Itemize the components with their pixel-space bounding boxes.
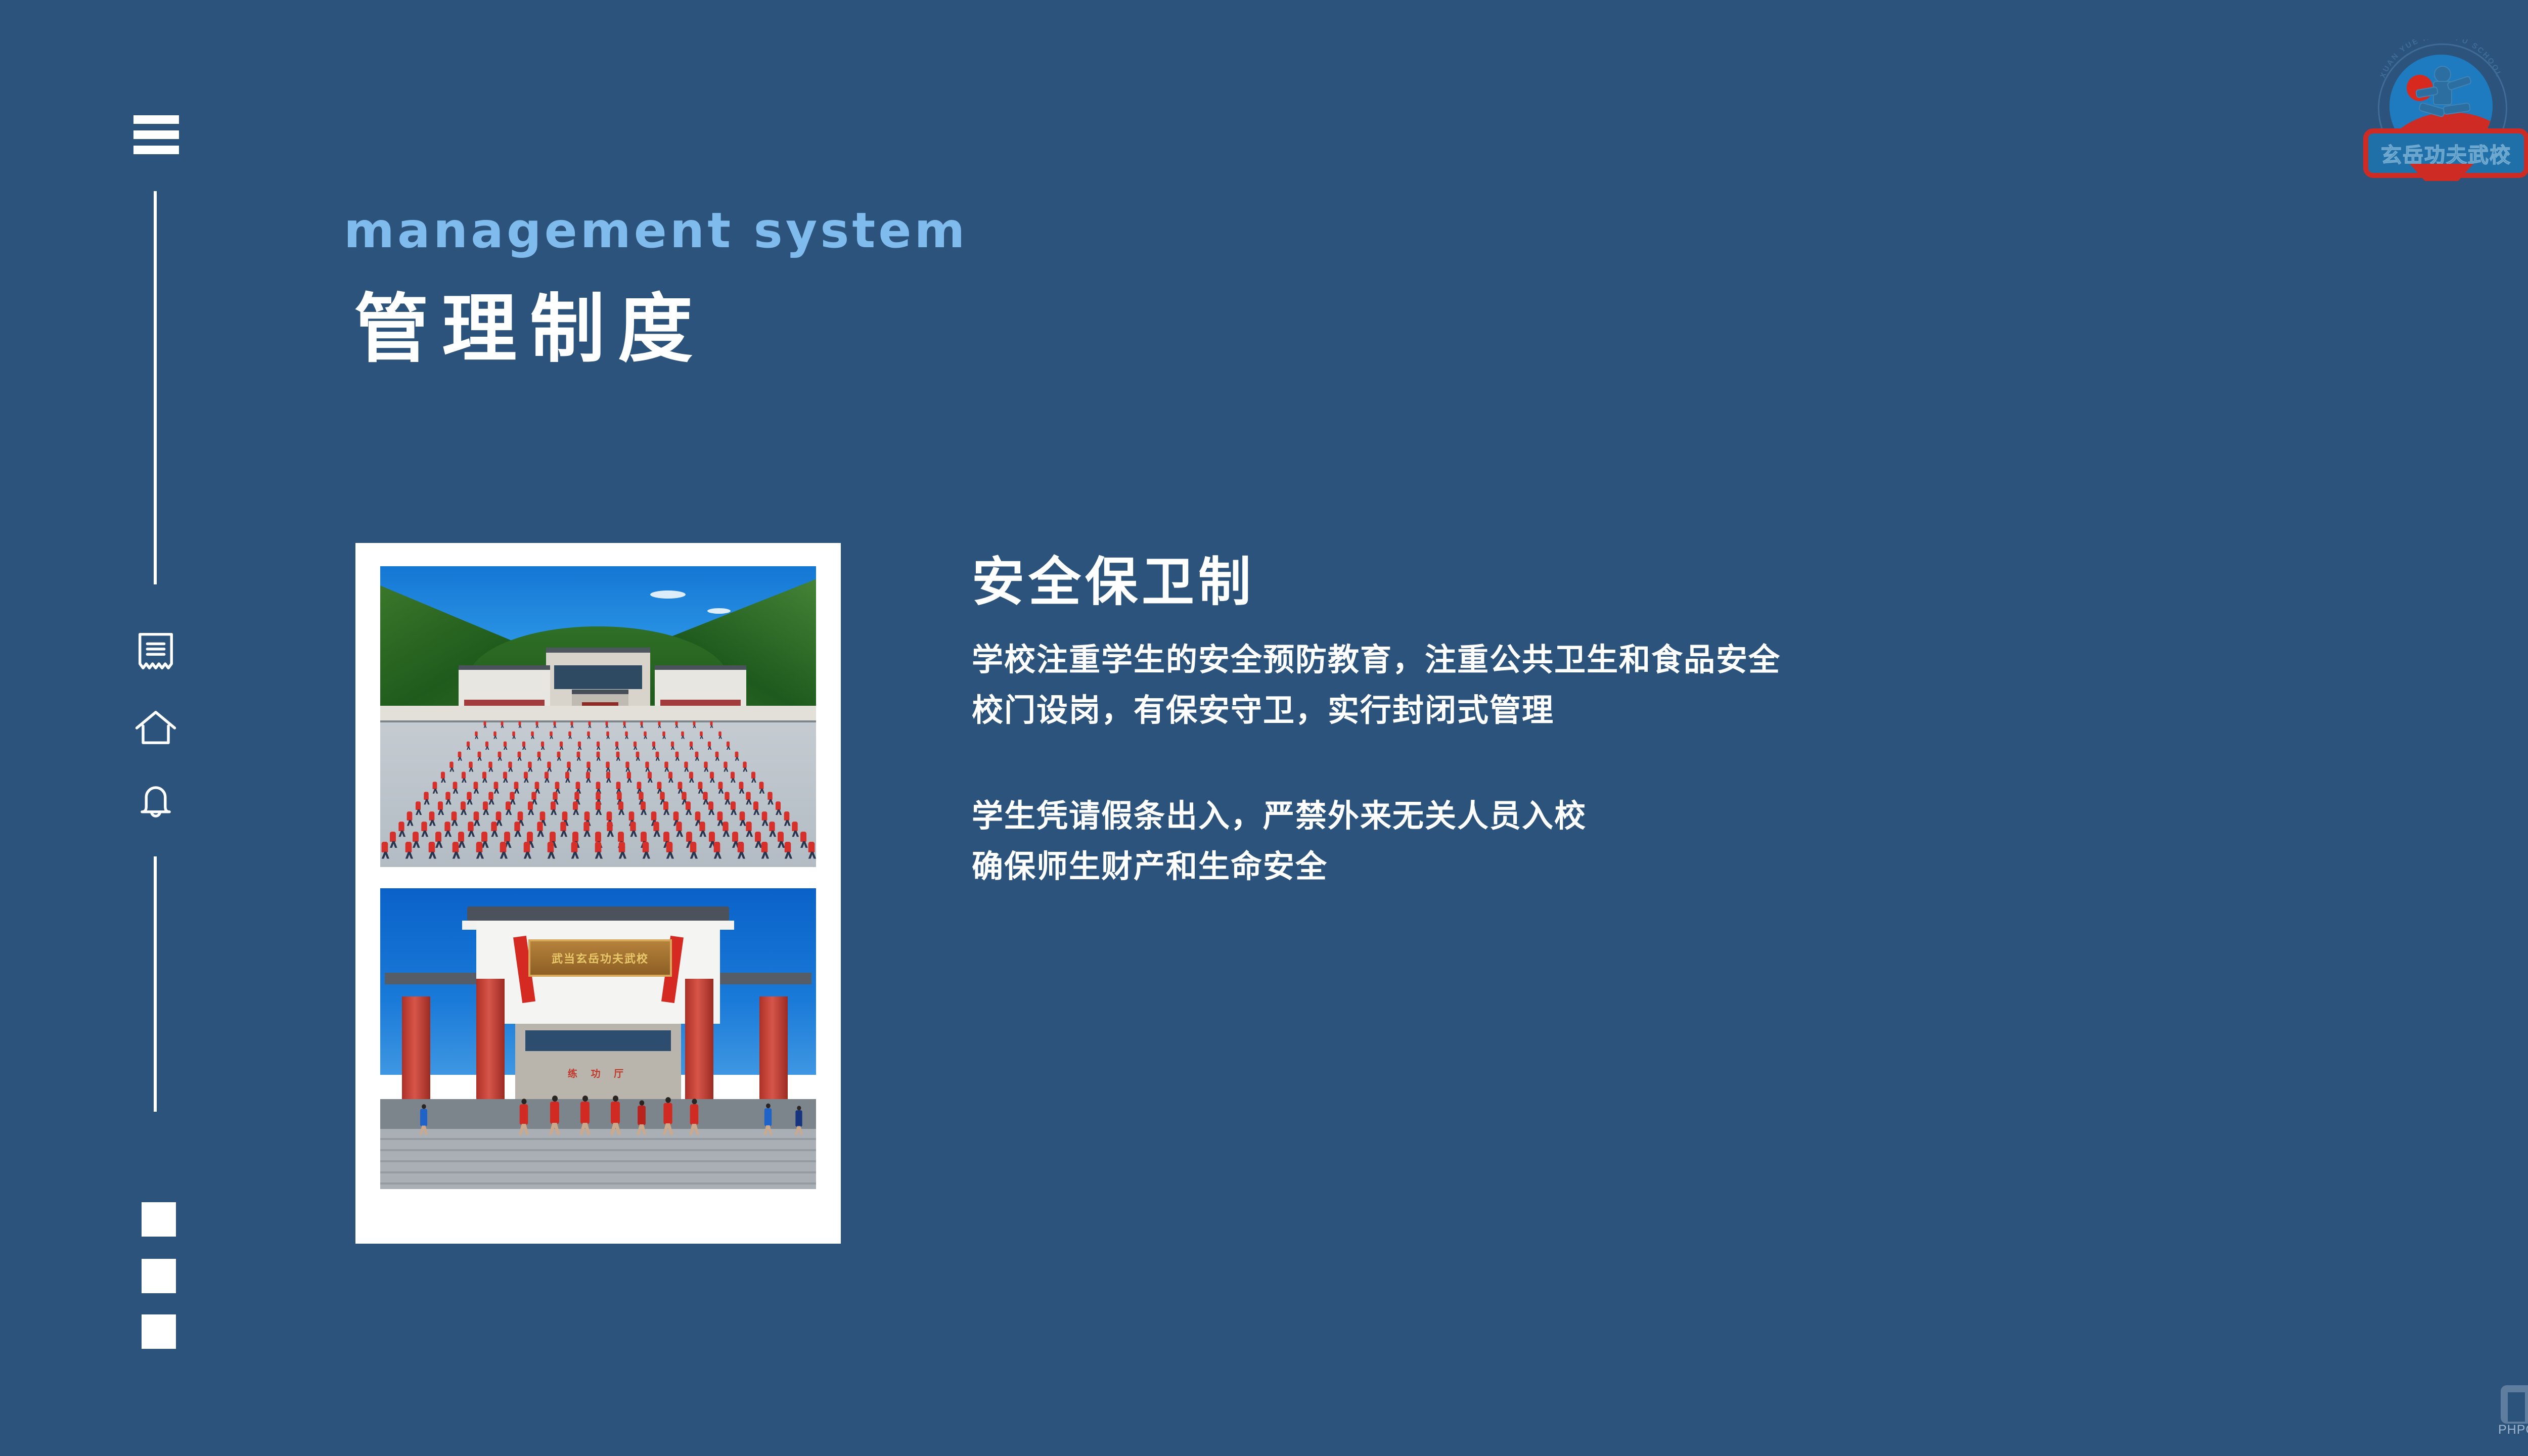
school-courtyard-aerial-photo xyxy=(380,566,816,867)
content-heading: 安全保卫制 xyxy=(972,551,2438,613)
home-icon[interactable] xyxy=(130,703,181,753)
training-hall-sign: 练 功 厅 xyxy=(524,1063,672,1084)
content-column: 安全保卫制 学校注重学生的安全预防教育，注重公共卫生和食品安全校门设岗，有保安守… xyxy=(972,551,2438,892)
watermark-pc-icon xyxy=(2501,1385,2528,1424)
page-marker-2[interactable] xyxy=(142,1259,176,1293)
content-paragraph: 学生凭请假条出入，严禁外来无关人员入校确保师生财产和生命安全 xyxy=(972,791,2438,892)
school-gate-training-photo: 武当玄岳功夫武校 练 功 厅 xyxy=(380,888,816,1189)
left-sidebar xyxy=(0,0,202,1456)
watermark-text: PHPCMS.CN xyxy=(2484,1423,2528,1437)
slide-root: management system 管理制度 xyxy=(0,0,2528,1456)
watermark: PHPCMS.CN xyxy=(2484,1385,2528,1441)
logo-kungfu-figure-icon xyxy=(2416,66,2471,131)
school-logo: XUAN YUE KUNG FU SCHOOL 玄岳功夫武校 xyxy=(2350,39,2528,186)
content-paragraph: 学校注重学生的安全预防教育，注重公共卫生和食品安全校门设岗，有保安守卫，实行封闭… xyxy=(972,634,2438,736)
hamburger-bar xyxy=(133,146,179,154)
sidebar-divider-top xyxy=(154,191,157,584)
logo-bottom-tab xyxy=(2410,164,2473,181)
page-marker-3[interactable] xyxy=(142,1314,176,1349)
receipt-icon[interactable] xyxy=(130,626,181,676)
bell-icon[interactable] xyxy=(130,776,181,827)
gate-plaque: 武当玄岳功夫武校 xyxy=(528,939,672,976)
hamburger-bar xyxy=(133,130,179,139)
hamburger-menu-icon[interactable] xyxy=(133,115,179,154)
gate-plaque-text: 武当玄岳功夫武校 xyxy=(530,941,670,974)
page-marker-1[interactable] xyxy=(142,1202,176,1237)
hamburger-bar xyxy=(133,115,179,124)
page-subtitle: management system xyxy=(344,206,968,255)
sidebar-divider-bottom xyxy=(154,856,157,1112)
page-title: 管理制度 xyxy=(354,286,706,372)
photo-card: 武当玄岳功夫武校 练 功 厅 xyxy=(355,543,841,1244)
